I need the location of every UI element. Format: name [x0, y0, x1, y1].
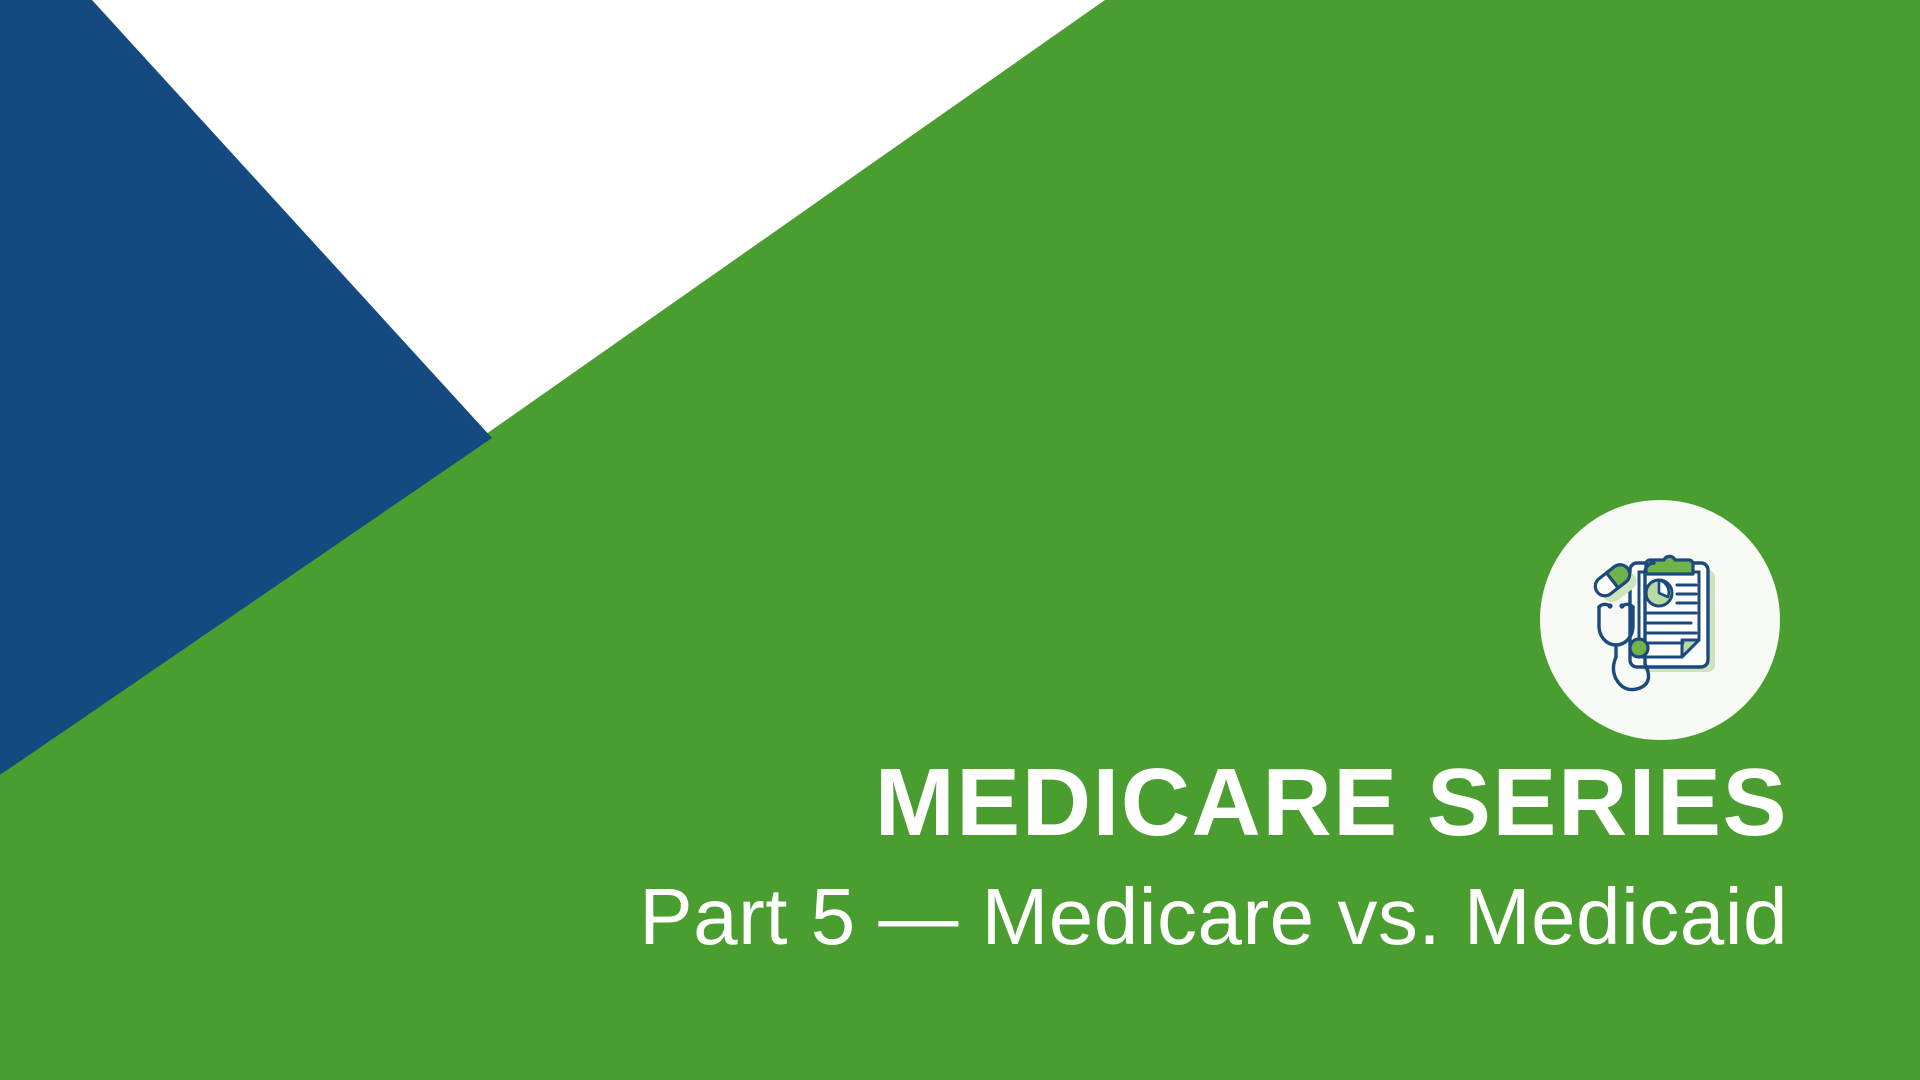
stethoscope-chestpiece-icon — [1630, 639, 1648, 657]
title-block: MEDICARE SERIES Part 5 — Medicare vs. Me… — [0, 755, 1788, 957]
clipboard-clip-icon — [1646, 556, 1693, 574]
medical-clipboard-stethoscope-icon — [1540, 500, 1780, 740]
page-subtitle: Part 5 — Medicare vs. Medicaid — [0, 877, 1788, 957]
page-title: MEDICARE SERIES — [0, 755, 1788, 851]
slide-canvas: MEDICARE SERIES Part 5 — Medicare vs. Me… — [0, 0, 1920, 1080]
icon-svg — [1540, 500, 1780, 740]
